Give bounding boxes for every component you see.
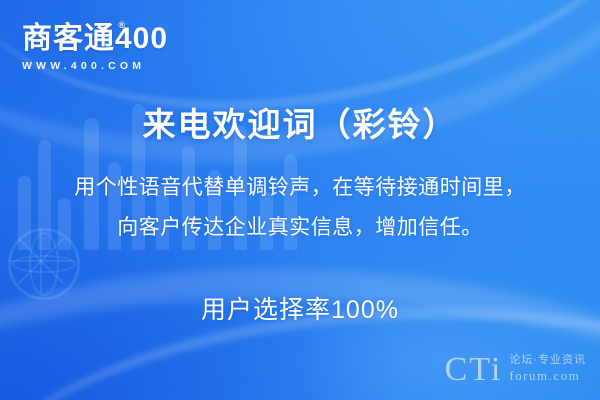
body-copy: 用个性语音代替单调铃声，在等待接通时间里， 向客户传达企业真实信息，增加信任。 [0,168,600,248]
watermark: CTi 论坛·专业资讯 forum.com [445,354,586,386]
watermark-tagline: 论坛·专业资讯 [509,354,586,368]
highlight-statistic: 用户选择率100% [0,290,600,326]
page-title: 来电欢迎词（彩铃） [0,98,600,146]
brand-logo-website: WWW.400.COM [22,61,168,72]
body-copy-line-1: 用个性语音代替单调铃声，在等待接通时间里， [0,168,600,208]
watermark-text-group: 论坛·专业资讯 forum.com [509,354,586,386]
promo-banner: 商客通400 ® WWW.400.COM 来电欢迎词（彩铃） 用个性语音代替单调… [0,0,600,400]
watermark-mark: CTi [445,354,503,386]
body-copy-line-2: 向客户传达企业真实信息，增加信任。 [0,208,600,248]
brand-logo[interactable]: 商客通400 ® WWW.400.COM [22,24,168,72]
brand-logo-wordmark: 商客通400 ® [22,24,168,54]
watermark-url: forum.com [509,368,586,384]
registered-trademark-icon: ® [118,21,126,30]
brand-logo-text: 商客通400 [22,22,168,55]
